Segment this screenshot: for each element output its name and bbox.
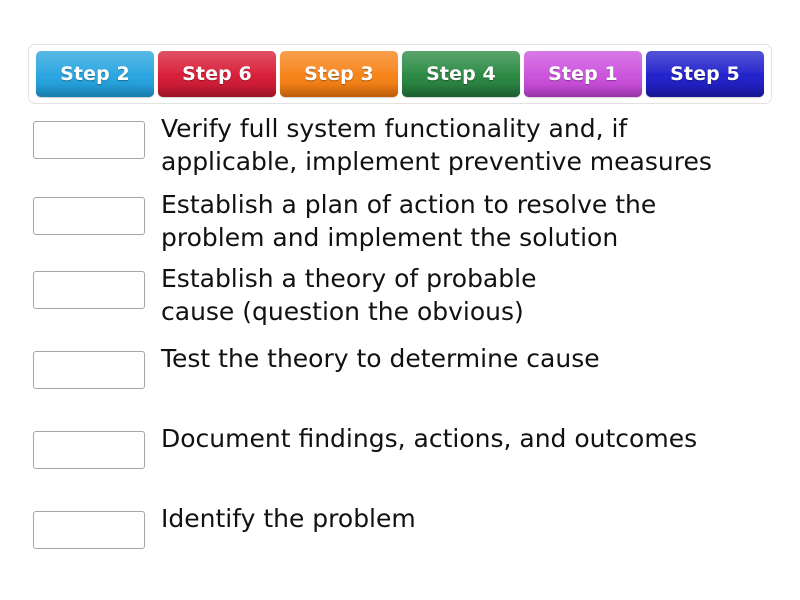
draggable-tile-step-6[interactable]: Step 6 (158, 51, 276, 97)
drop-zone[interactable] (33, 511, 145, 549)
draggable-tile-step-2[interactable]: Step 2 (36, 51, 154, 97)
answer-row-text: Establish a plan of action to resolve th… (161, 188, 656, 254)
answer-row-text: Verify full system functionality and, if… (161, 112, 712, 178)
answer-row-text: Test the theory to determine cause (161, 342, 600, 375)
answer-row: Test the theory to determine cause (0, 342, 800, 389)
answer-row-list: Verify full system functionality and, if… (0, 112, 800, 549)
draggable-tile-label: Step 2 (60, 63, 130, 85)
answer-row: Establish a theory of probable cause (qu… (0, 262, 800, 328)
answer-row: Document findings, actions, and outcomes (0, 422, 800, 469)
answer-row-text: Identify the problem (161, 502, 416, 535)
drop-zone[interactable] (33, 431, 145, 469)
drop-zone[interactable] (33, 271, 145, 309)
answer-row-text: Establish a theory of probable cause (qu… (161, 262, 536, 328)
draggable-tile-step-3[interactable]: Step 3 (280, 51, 398, 97)
draggable-tile-step-4[interactable]: Step 4 (402, 51, 520, 97)
draggable-tile-label: Step 5 (670, 63, 740, 85)
match-up-activity: Step 2 Step 6 Step 3 Step 4 Step 1 Step … (0, 0, 800, 600)
answer-row: Establish a plan of action to resolve th… (0, 188, 800, 254)
draggable-tile-label: Step 1 (548, 63, 618, 85)
draggable-tile-label: Step 3 (304, 63, 374, 85)
drop-zone[interactable] (33, 351, 145, 389)
draggable-tile-label: Step 6 (182, 63, 252, 85)
draggable-tile-tray: Step 2 Step 6 Step 3 Step 4 Step 1 Step … (28, 44, 772, 104)
draggable-tile-step-5[interactable]: Step 5 (646, 51, 764, 97)
answer-row: Identify the problem (0, 502, 800, 549)
answer-row-text: Document findings, actions, and outcomes (161, 422, 697, 455)
draggable-tile-step-1[interactable]: Step 1 (524, 51, 642, 97)
drop-zone[interactable] (33, 121, 145, 159)
answer-row: Verify full system functionality and, if… (0, 112, 800, 178)
draggable-tile-label: Step 4 (426, 63, 496, 85)
drop-zone[interactable] (33, 197, 145, 235)
